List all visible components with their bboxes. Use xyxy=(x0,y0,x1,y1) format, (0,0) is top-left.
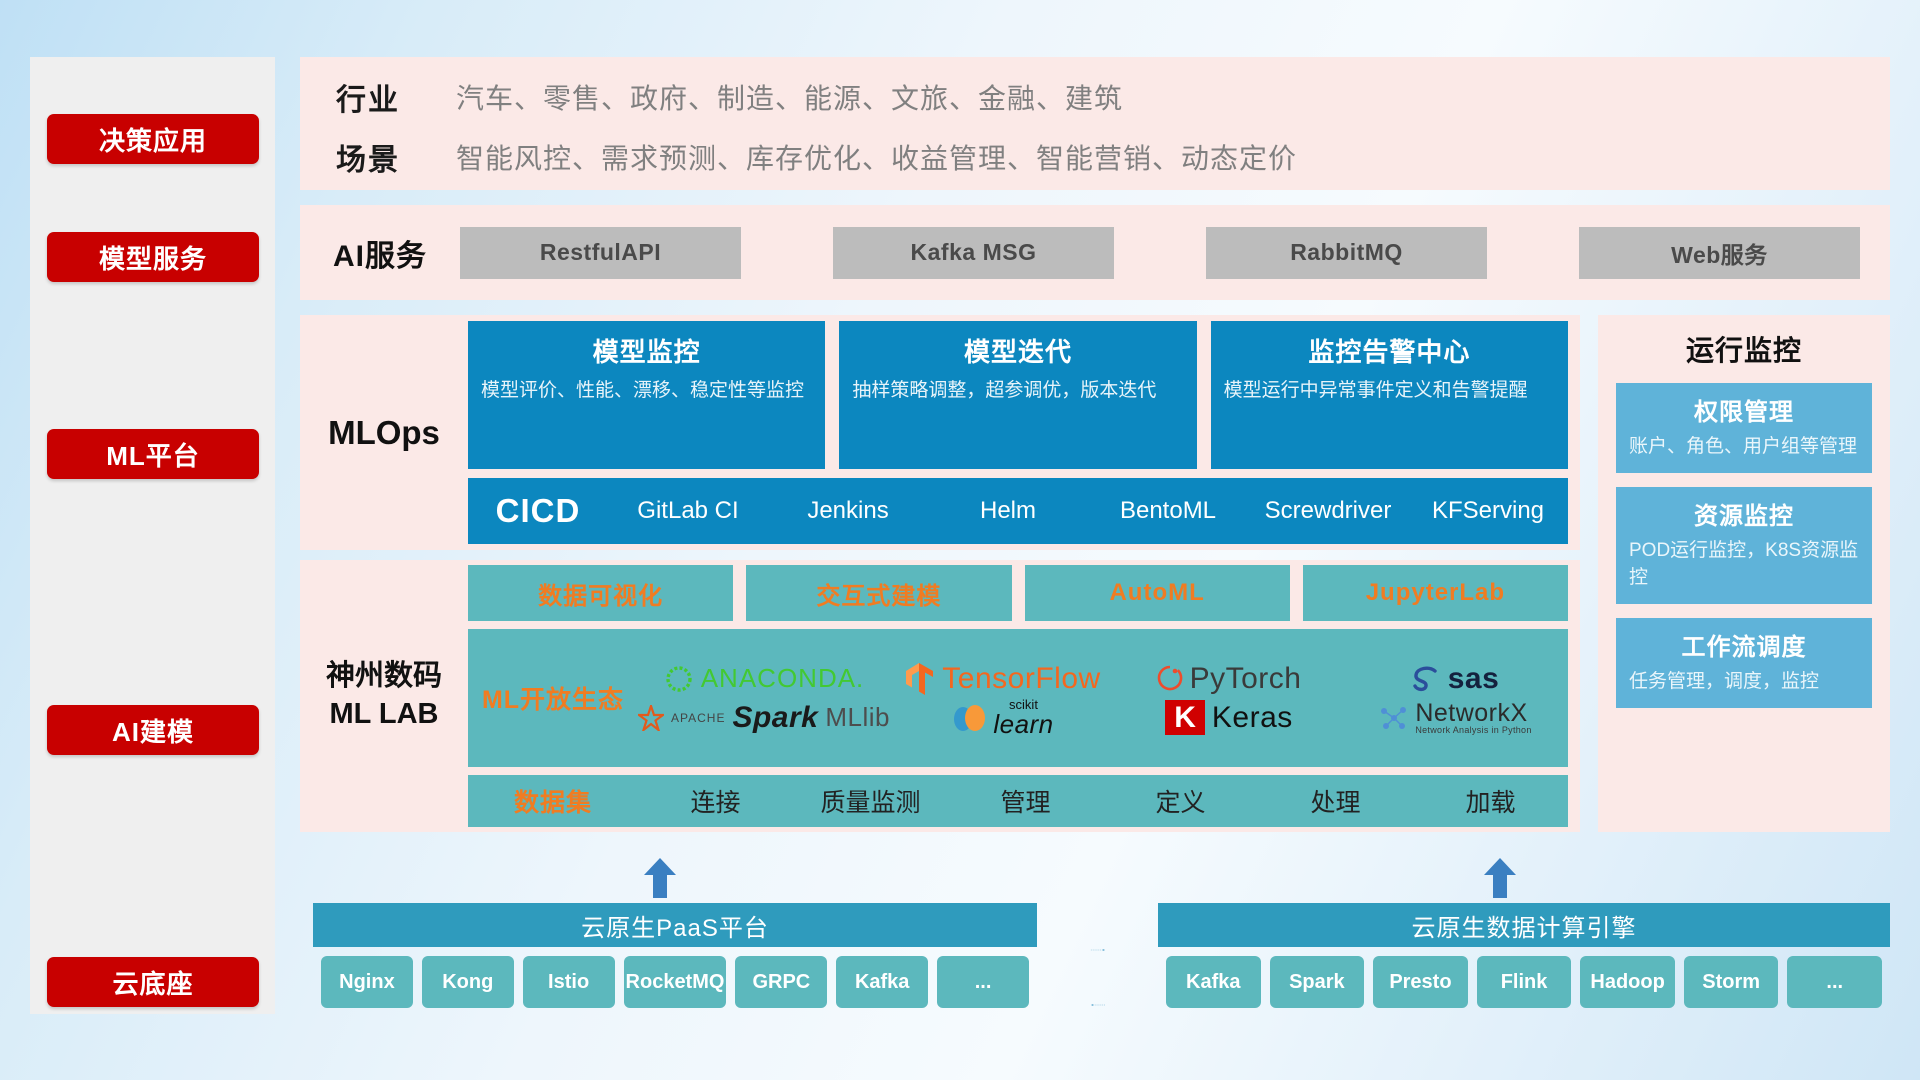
ml-ecosystem-logo-grid: ANACONDA. TensorFlow xyxy=(638,659,1568,737)
ai-service-chip-kafka-msg[interactable]: Kafka MSG xyxy=(833,227,1114,279)
monitor-card-workflow[interactable]: 工作流调度 任务管理，调度，监控 xyxy=(1616,618,1872,708)
card-desc: 模型运行中异常事件定义和告警提醒 xyxy=(1224,378,1555,405)
tensorflow-logo-text: TensorFlow xyxy=(942,662,1100,696)
dataset-item-define[interactable]: 定义 xyxy=(1103,783,1258,819)
cicd-item-jenkins[interactable]: Jenkins xyxy=(768,494,928,528)
mlops-card-list: 模型监控 模型评价、性能、漂移、稳定性等监控 模型迭代 抽样策略调整，超参调优，… xyxy=(468,321,1568,469)
anaconda-mark-icon xyxy=(664,664,694,694)
card-desc: 模型评价、性能、漂移、稳定性等监控 xyxy=(481,378,812,405)
dashed-arrow-right-icon xyxy=(1048,949,1148,951)
card-title: 监控告警中心 xyxy=(1224,332,1555,369)
cicd-item-list: GitLab CI Jenkins Helm BentoML Screwdriv… xyxy=(608,494,1568,528)
paas-chip-nginx[interactable]: Nginx xyxy=(321,956,413,1008)
runtime-monitor-title: 运行监控 xyxy=(1598,315,1890,369)
tab-automl[interactable]: AutoML xyxy=(1025,565,1290,621)
dataset-item-list: 连接 质量监测 管理 定义 处理 加载 xyxy=(638,783,1568,819)
industry-row: 行业 汽车、零售、政府、制造、能源、文旅、金融、建筑 xyxy=(336,75,1123,119)
networkx-tagline: Network Analysis in Python xyxy=(1415,726,1531,735)
dataset-item-process[interactable]: 处理 xyxy=(1258,783,1413,819)
card-title: 权限管理 xyxy=(1629,392,1859,427)
card-title: 资源监控 xyxy=(1629,496,1859,531)
decision-application-band: 行业 汽车、零售、政府、制造、能源、文旅、金融、建筑 场景 智能风控、需求预测、… xyxy=(300,57,1890,190)
ai-service-label: AI服务 xyxy=(300,231,460,275)
stage-label: 模型服务 xyxy=(99,239,207,276)
cicd-item-kfserving[interactable]: KFServing xyxy=(1408,494,1568,528)
mlops-card-model-iteration[interactable]: 模型迭代 抽样策略调整，超参调优，版本迭代 xyxy=(839,321,1196,469)
card-desc: POD运行监控，K8S资源监控 xyxy=(1629,538,1859,592)
stage-chip-ml-platform[interactable]: ML平台 xyxy=(47,429,259,479)
card-title: 工作流调度 xyxy=(1629,627,1859,662)
engine-chip-kafka[interactable]: Kafka xyxy=(1166,956,1261,1008)
tensorflow-logo: TensorFlow xyxy=(890,662,1116,696)
dataset-item-load[interactable]: 加载 xyxy=(1413,783,1568,819)
tensorflow-mark-icon xyxy=(905,662,935,696)
ml-lab-tab-list: 数据可视化 交互式建模 AutoML JupyterLab xyxy=(468,565,1568,621)
card-desc: 抽样策略调整，超参调优，版本迭代 xyxy=(852,378,1183,405)
ml-lab-label-line1: 神州数码 xyxy=(300,658,468,696)
tab-interactive-modeling[interactable]: 交互式建模 xyxy=(746,565,1011,621)
engine-chip-hadoop[interactable]: Hadoop xyxy=(1580,956,1675,1008)
engine-chip-more[interactable]: ... xyxy=(1787,956,1882,1008)
dataset-item-manage[interactable]: 管理 xyxy=(948,783,1103,819)
stage-chip-ai-modeling[interactable]: AI建模 xyxy=(47,705,259,755)
stage-label: AI建模 xyxy=(112,712,194,749)
paas-chip-grpc[interactable]: GRPC xyxy=(735,956,827,1008)
mlops-card-alert-center[interactable]: 监控告警中心 模型运行中异常事件定义和告警提醒 xyxy=(1211,321,1568,469)
pytorch-mark-icon xyxy=(1157,664,1183,694)
ai-service-chip-web-service[interactable]: Web服务 xyxy=(1579,227,1860,279)
paas-chip-more[interactable]: ... xyxy=(937,956,1029,1008)
spark-mllib-logo: APACHE Spark MLlib xyxy=(638,701,890,735)
mlops-band: MLOps 模型监控 模型评价、性能、漂移、稳定性等监控 模型迭代 抽样策略调整… xyxy=(300,315,1580,550)
runtime-monitor-panel: 运行监控 权限管理 账户、角色、用户组等管理 资源监控 POD运行监控，K8S资… xyxy=(1598,315,1890,832)
spark-apache-text: APACHE xyxy=(671,711,725,725)
paas-chip-kong[interactable]: Kong xyxy=(422,956,514,1008)
architecture-diagram: 决策应用 模型服务 ML平台 AI建模 云底座 行业 汽车、零售、政府、制造、能… xyxy=(0,0,1920,1080)
dataset-item-connect[interactable]: 连接 xyxy=(638,783,793,819)
stage-label: 决策应用 xyxy=(99,121,207,158)
engine-chip-storm[interactable]: Storm xyxy=(1684,956,1779,1008)
keras-logo-text: Keras xyxy=(1212,701,1293,735)
stage-chip-model-service[interactable]: 模型服务 xyxy=(47,232,259,282)
ai-service-band: AI服务 RestfulAPI Kafka MSG RabbitMQ Web服务 xyxy=(300,205,1890,300)
sas-swirl-icon xyxy=(1411,665,1441,693)
anaconda-logo-text: ANACONDA. xyxy=(701,663,865,694)
paas-chip-list: Nginx Kong Istio RocketMQ GRPC Kafka ... xyxy=(313,947,1037,1020)
pytorch-logo: PyTorch xyxy=(1116,662,1342,696)
ml-lab-band: 神州数码 ML LAB 数据可视化 交互式建模 AutoML JupyterLa… xyxy=(300,560,1580,832)
cicd-item-bentoml[interactable]: BentoML xyxy=(1088,494,1248,528)
paas-chip-kafka[interactable]: Kafka xyxy=(836,956,928,1008)
networkx-logo: NetworkX Network Analysis in Python xyxy=(1342,700,1568,736)
keras-k-icon: K xyxy=(1165,700,1205,735)
ml-ecosystem-label: ML开放生态 xyxy=(468,680,638,716)
dataset-label: 数据集 xyxy=(468,783,638,819)
cicd-bar: CICD GitLab CI Jenkins Helm BentoML Scre… xyxy=(468,478,1568,544)
anaconda-logo: ANACONDA. xyxy=(638,663,890,694)
stage-chip-cloud-base[interactable]: 云底座 xyxy=(47,957,259,1007)
networkx-graph-icon xyxy=(1378,704,1408,732)
monitor-card-permission[interactable]: 权限管理 账户、角色、用户组等管理 xyxy=(1616,383,1872,473)
cicd-title: CICD xyxy=(468,492,608,530)
card-desc: 任务管理，调度，监控 xyxy=(1629,669,1859,696)
mllib-logo-text: MLlib xyxy=(825,702,890,733)
cloud-native-paas-group: 云原生PaaS平台 Nginx Kong Istio RocketMQ GRPC… xyxy=(313,903,1037,1020)
scenario-value: 智能风控、需求预测、库存优化、收益管理、智能营销、动态定价 xyxy=(456,137,1297,177)
card-title: 模型监控 xyxy=(481,332,812,369)
ml-ecosystem-row: ML开放生态 ANACONDA. TensorFlow xyxy=(468,629,1568,767)
stage-label: 云底座 xyxy=(112,964,193,1001)
engine-chip-presto[interactable]: Presto xyxy=(1373,956,1468,1008)
card-title: 模型迭代 xyxy=(852,332,1183,369)
learn-logo-text: learn xyxy=(993,711,1053,737)
ml-lab-content: 数据可视化 交互式建模 AutoML JupyterLab ML开放生态 ANA… xyxy=(468,565,1580,827)
industry-key: 行业 xyxy=(336,75,456,119)
networkx-logo-text: NetworkX xyxy=(1415,700,1531,726)
spark-star-icon xyxy=(638,705,664,731)
paas-chip-istio[interactable]: Istio xyxy=(523,956,615,1008)
cicd-item-gitlab-ci[interactable]: GitLab CI xyxy=(608,494,768,528)
scenario-row: 场景 智能风控、需求预测、库存优化、收益管理、智能营销、动态定价 xyxy=(336,135,1297,179)
scikit-learn-mark-icon xyxy=(952,699,986,737)
scenario-key: 场景 xyxy=(336,135,456,179)
mlops-content: 模型监控 模型评价、性能、漂移、稳定性等监控 模型迭代 抽样策略调整，超参调优，… xyxy=(468,321,1580,544)
monitor-card-resource[interactable]: 资源监控 POD运行监控，K8S资源监控 xyxy=(1616,487,1872,604)
stage-chip-decision-app[interactable]: 决策应用 xyxy=(47,114,259,164)
sas-logo: sas xyxy=(1342,662,1568,696)
up-arrow-paas-icon xyxy=(640,858,680,898)
paas-title: 云原生PaaS平台 xyxy=(313,903,1037,947)
dataset-row: 数据集 连接 质量监测 管理 定义 处理 加载 xyxy=(468,775,1568,827)
stage-rail: 决策应用 模型服务 ML平台 AI建模 云底座 xyxy=(30,57,275,1014)
pytorch-logo-text: PyTorch xyxy=(1190,662,1302,696)
cicd-item-helm[interactable]: Helm xyxy=(928,494,1088,528)
dashed-arrow-left-icon xyxy=(1048,1004,1148,1006)
ai-service-items: RestfulAPI Kafka MSG RabbitMQ Web服务 xyxy=(460,227,1890,279)
mlops-card-model-monitor[interactable]: 模型监控 模型评价、性能、漂移、稳定性等监控 xyxy=(468,321,825,469)
paas-chip-rocketmq[interactable]: RocketMQ xyxy=(624,956,727,1008)
scikit-learn-logo: scikit learn xyxy=(890,698,1116,737)
spark-logo-text: Spark xyxy=(732,701,818,735)
data-engine-chip-list: Kafka Spark Presto Flink Hadoop Storm ..… xyxy=(1158,947,1890,1020)
mlops-label: MLOps xyxy=(300,414,468,452)
ml-lab-label-line2: ML LAB xyxy=(300,696,468,734)
keras-logo: K Keras xyxy=(1116,700,1342,735)
ai-service-chip-rabbitmq[interactable]: RabbitMQ xyxy=(1206,227,1487,279)
tab-data-visualization[interactable]: 数据可视化 xyxy=(468,565,733,621)
stage-label: ML平台 xyxy=(106,436,200,473)
up-arrow-data-engine-icon xyxy=(1480,858,1520,898)
ai-service-chip-restfulapi[interactable]: RestfulAPI xyxy=(460,227,741,279)
ml-lab-label: 神州数码 ML LAB xyxy=(300,658,468,733)
card-desc: 账户、角色、用户组等管理 xyxy=(1629,434,1859,461)
dataset-item-quality-monitor[interactable]: 质量监测 xyxy=(793,783,948,819)
industry-value: 汽车、零售、政府、制造、能源、文旅、金融、建筑 xyxy=(456,77,1123,117)
engine-chip-spark[interactable]: Spark xyxy=(1270,956,1365,1008)
cloud-native-data-engine-group: 云原生数据计算引擎 Kafka Spark Presto Flink Hadoo… xyxy=(1158,903,1890,1020)
cicd-item-screwdriver[interactable]: Screwdriver xyxy=(1248,494,1408,528)
data-engine-title: 云原生数据计算引擎 xyxy=(1158,903,1890,947)
tab-jupyterlab[interactable]: JupyterLab xyxy=(1303,565,1568,621)
engine-chip-flink[interactable]: Flink xyxy=(1477,956,1572,1008)
sas-logo-text: sas xyxy=(1448,662,1500,696)
